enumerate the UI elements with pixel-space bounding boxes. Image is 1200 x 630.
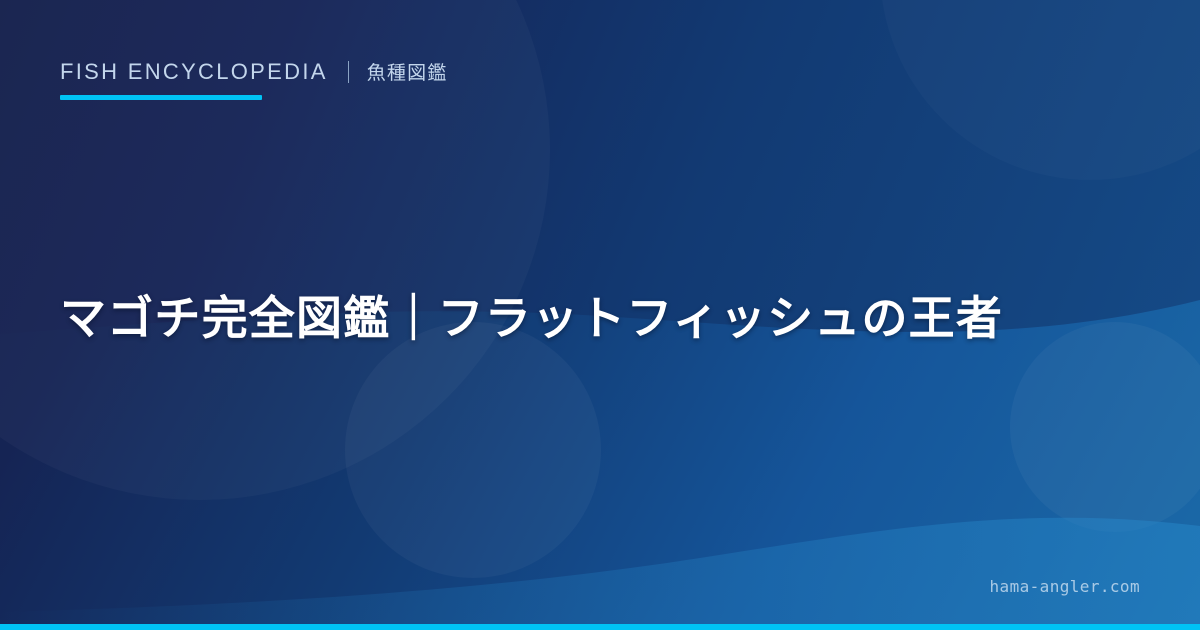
site-url: hama-angler.com bbox=[990, 577, 1141, 596]
eyebrow-label-en: FISH ENCYCLOPEDIA bbox=[60, 59, 328, 85]
bottom-accent-bar bbox=[0, 624, 1200, 630]
page-title: マゴチ完全図鑑｜フラットフィッシュの王者 bbox=[60, 289, 1140, 348]
accent-underline-bar bbox=[60, 95, 262, 100]
eyebrow-divider bbox=[348, 61, 349, 83]
eyebrow-label-ja: 魚種図鑑 bbox=[367, 58, 448, 85]
og-banner: FISH ENCYCLOPEDIA 魚種図鑑 マゴチ完全図鑑｜フラットフィッシュ… bbox=[0, 0, 1200, 630]
eyebrow: FISH ENCYCLOPEDIA 魚種図鑑 bbox=[60, 58, 448, 85]
banner-content: FISH ENCYCLOPEDIA 魚種図鑑 マゴチ完全図鑑｜フラットフィッシュ… bbox=[0, 0, 1200, 630]
